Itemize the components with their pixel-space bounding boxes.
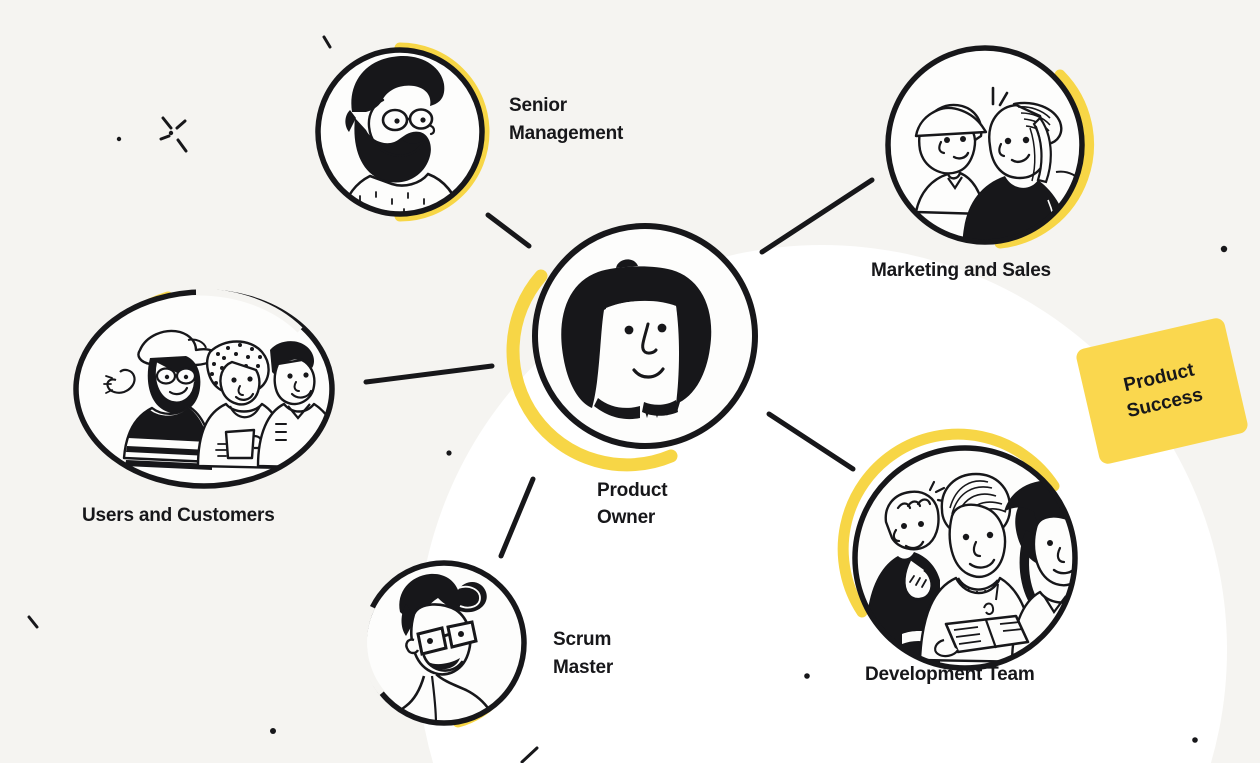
decoration-dot-icon (446, 450, 451, 455)
decoration-dot-icon (1192, 737, 1198, 743)
node-label-development-team: Development Team (865, 661, 1035, 689)
node-senior-management[interactable] (318, 48, 484, 216)
connector-owner-users-customers (366, 366, 492, 382)
decoration-dot-icon (169, 131, 173, 135)
decoration-dot-icon (270, 728, 276, 734)
decoration-dot-icon (117, 137, 121, 141)
decoration-dot-icon (804, 673, 810, 679)
decoration-sparkle-icon (161, 118, 186, 151)
decoration-tick-icon (29, 617, 37, 627)
decoration-dot-icon (1221, 246, 1227, 252)
node-users-customers[interactable] (76, 292, 340, 486)
node-label-product-owner: Product Owner (597, 478, 667, 532)
node-marketing-sales[interactable] (888, 48, 1089, 262)
node-label-users-customers: Users and Customers (82, 502, 275, 530)
diagram-svg (0, 0, 1260, 763)
connector-owner-senior-management (488, 215, 529, 246)
product-owner-avatar (561, 259, 711, 419)
diagram-canvas: Senior Management Marketing and Sales Us… (0, 0, 1260, 763)
decoration-tick-icon (324, 37, 330, 47)
node-label-scrum-master: Scrum Master (553, 626, 613, 681)
node-label-marketing-sales: Marketing and Sales (871, 257, 1051, 285)
node-label-senior-management: Senior Management (509, 92, 623, 147)
connector-owner-marketing-sales (762, 180, 872, 252)
